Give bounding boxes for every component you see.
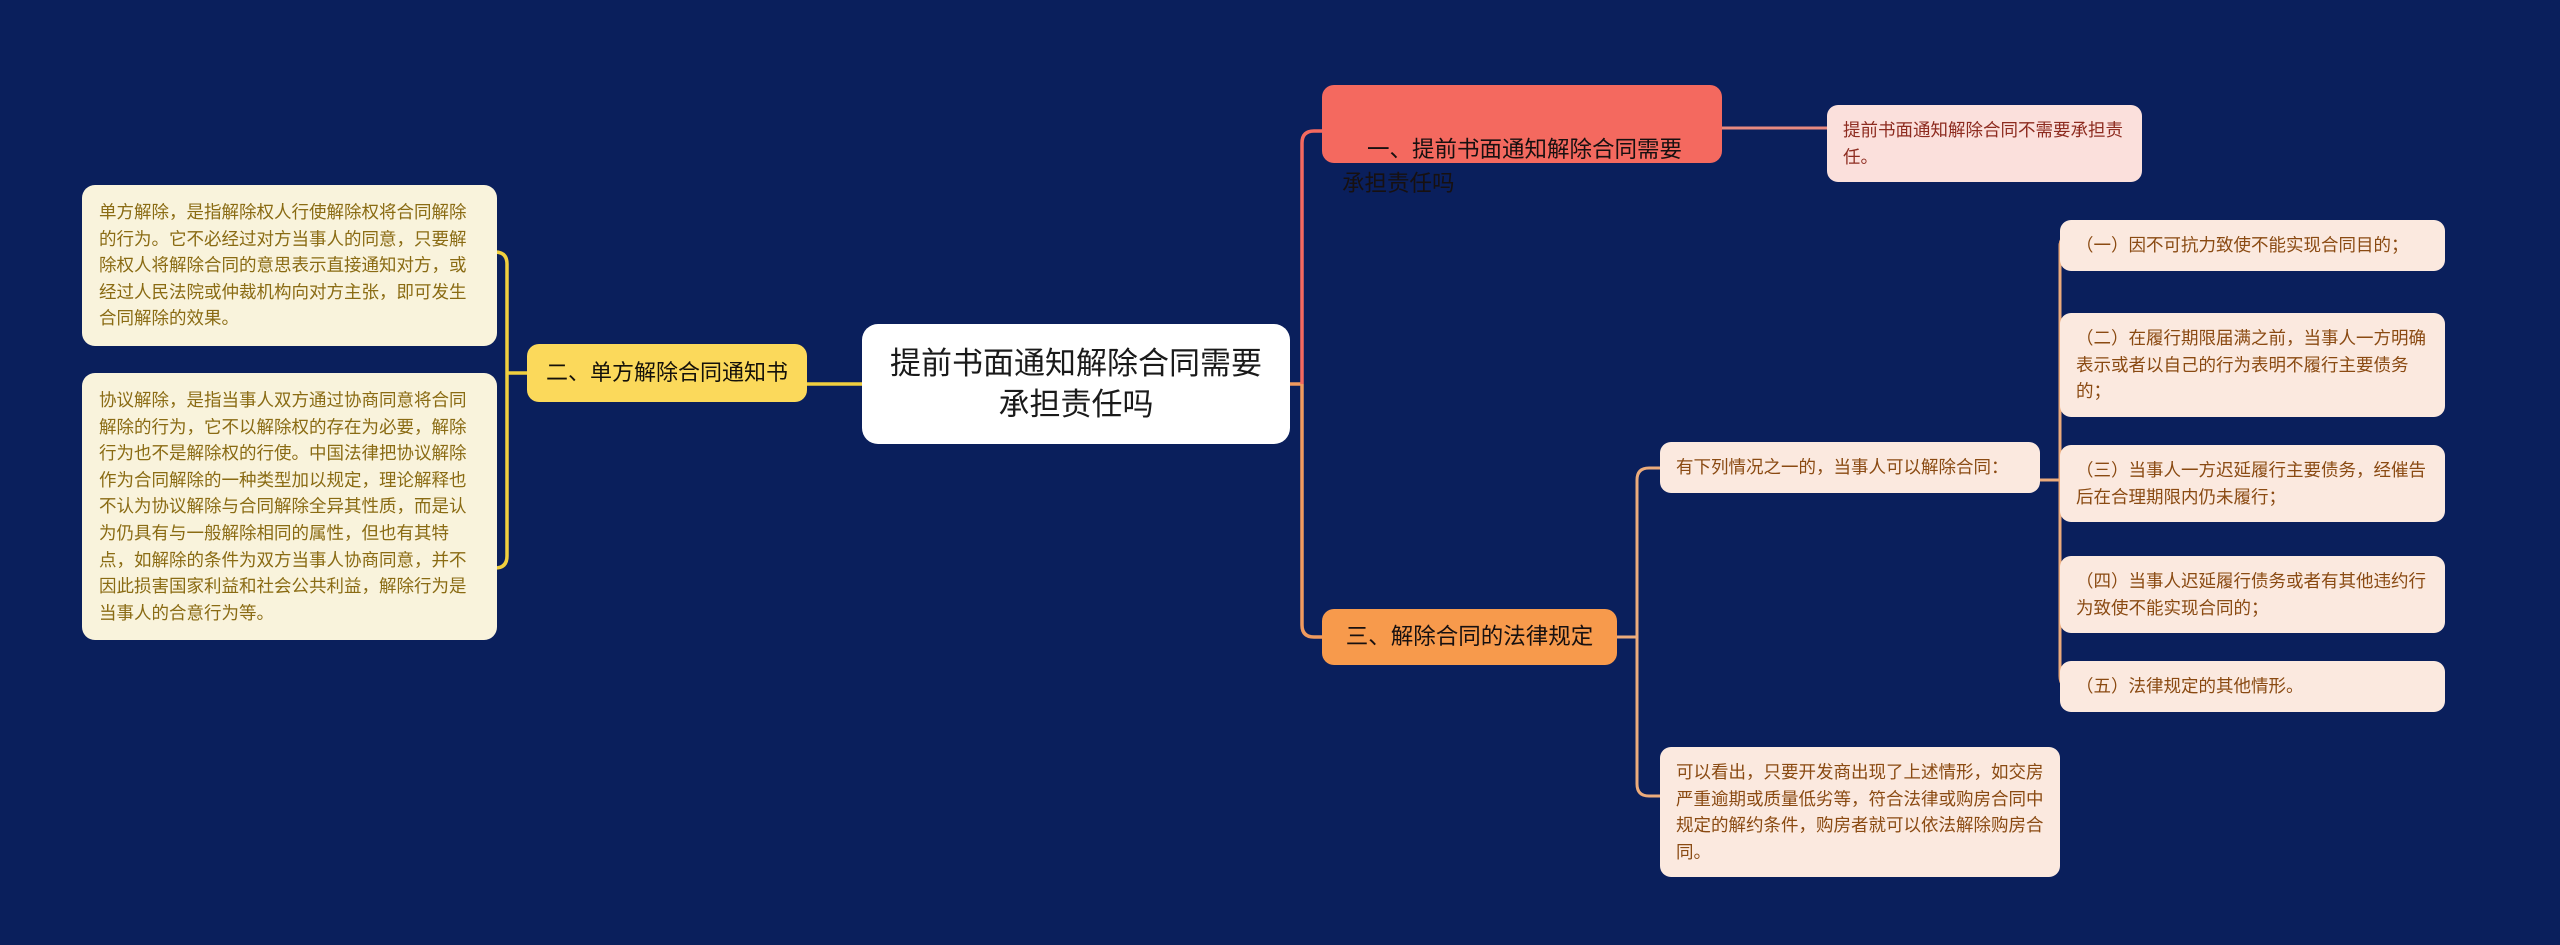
mindmap-canvas: 提前书面通知解除合同需要承担责任吗 二、单方解除合同通知书 单方解除，是指解除权… bbox=[0, 0, 2560, 945]
branch-label-liability-question[interactable]: 一、提前书面通知解除合同需要承担责任吗 bbox=[1322, 85, 1722, 163]
note-agreed-termination-definition[interactable]: 协议解除，是指当事人双方通过协商同意将合同解除的行为，它不以解除权的存在为必要，… bbox=[82, 373, 497, 640]
branch-label-unilateral-termination[interactable]: 二、单方解除合同通知书 bbox=[527, 344, 807, 402]
root-node[interactable]: 提前书面通知解除合同需要承担责任吗 bbox=[862, 324, 1290, 444]
wire-root-to-red-label bbox=[1302, 131, 1322, 384]
list-item-condition-2[interactable]: （二）在履行期限届满之前，当事人一方明确表示或者以自己的行为表明不履行主要债务的… bbox=[2060, 313, 2445, 417]
note-unilateral-definition[interactable]: 单方解除，是指解除权人行使解除权将合同解除的行为。它不必经过对方当事人的同意，只… bbox=[82, 185, 497, 346]
wire-orange-to-intro bbox=[1637, 468, 1660, 637]
list-item-condition-4[interactable]: （四）当事人迟延履行债务或者有其他违约行为致使不能实现合同的； bbox=[2060, 556, 2445, 633]
note-conclusion[interactable]: 可以看出，只要开发商出现了上述情形，如交房严重逾期或质量低劣等，符合法律或购房合… bbox=[1660, 747, 2060, 877]
branch-label-legal-provisions-text: 三、解除合同的法律规定 bbox=[1346, 620, 1594, 654]
list-item-condition-3[interactable]: （三）当事人一方迟延履行主要债务，经催告后在合理期限内仍未履行； bbox=[2060, 445, 2445, 522]
note-conditions-intro[interactable]: 有下列情况之一的，当事人可以解除合同： bbox=[1660, 442, 2040, 493]
wire-orange-to-conclusion bbox=[1637, 637, 1660, 796]
list-item-condition-5[interactable]: （五）法律规定的其他情形。 bbox=[2060, 661, 2445, 712]
branch-label-liability-question-text: 一、提前书面通知解除合同需要承担责任吗 bbox=[1342, 137, 1682, 196]
note-liability-answer[interactable]: 提前书面通知解除合同不需要承担责任。 bbox=[1827, 105, 2142, 182]
root-node-label: 提前书面通知解除合同需要承担责任吗 bbox=[882, 343, 1270, 425]
branch-label-legal-provisions[interactable]: 三、解除合同的法律规定 bbox=[1322, 609, 1617, 665]
list-item-condition-1[interactable]: （一）因不可抗力致使不能实现合同目的； bbox=[2060, 220, 2445, 271]
wire-root-to-orange-label bbox=[1302, 384, 1322, 637]
branch-label-unilateral-termination-text: 二、单方解除合同通知书 bbox=[546, 356, 788, 389]
